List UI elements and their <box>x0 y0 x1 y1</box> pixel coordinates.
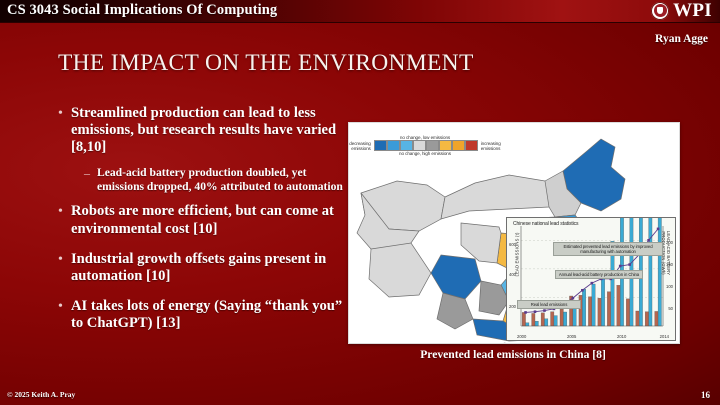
legend-swatches <box>374 140 478 151</box>
page-title: THE IMPACT ON THE ENVIRONMENT <box>58 50 474 77</box>
bullet-marker: • <box>58 298 71 332</box>
bullet-marker: • <box>58 251 71 285</box>
wpi-seal-icon <box>651 2 669 20</box>
bullet-text: Streamlined production can lead to less … <box>71 105 350 157</box>
map-legend: no change, low emissions decreasing emis… <box>361 135 489 157</box>
sub-bullet-text: Lead-acid battery production doubled, ye… <box>97 166 350 195</box>
legend-left-label: decreasing emissions <box>349 141 373 152</box>
copyright-notice: © 2025 Keith A. Pray <box>7 390 75 399</box>
header-bar: CS 3043 Social Implications Of Computing <box>0 0 720 23</box>
bullet-marker: • <box>58 105 71 157</box>
wpi-logo-text: WPI <box>673 1 712 20</box>
chart-annotation-production: Annual lead-acid battery production in C… <box>555 270 643 279</box>
chart-annotation-emissions: Real lead emissions <box>517 300 581 309</box>
list-item: • AI takes lots of energy (Saying “thank… <box>58 298 350 332</box>
bullet-text: Industrial growth offsets gains present … <box>71 251 350 285</box>
chart-plot-area <box>507 218 675 340</box>
sub-list-item: – Lead-acid battery production doubled, … <box>84 166 350 195</box>
list-item: • Industrial growth offsets gains presen… <box>58 251 350 285</box>
legend-bottom-label: no change, high emissions <box>361 151 489 156</box>
chart-annotation-prevented: Estimated prevented lead emissions by im… <box>553 242 663 256</box>
course-title: CS 3043 Social Implications Of Computing <box>7 2 277 19</box>
list-item: • Robots are more efficient, but can com… <box>58 203 350 237</box>
bullet-text: Robots are more efficient, but can come … <box>71 203 350 237</box>
bullet-text: AI takes lots of energy (Saying “thank y… <box>71 298 350 332</box>
list-item: • Streamlined production can lead to les… <box>58 105 350 157</box>
sub-bullet-marker: – <box>84 166 97 195</box>
inset-chart: Chinese national lead statistics LEAD EM… <box>506 217 676 341</box>
legend-right-label: increasing emissions <box>478 141 501 152</box>
bullet-marker: • <box>58 203 71 237</box>
presenter-name: Ryan Agge <box>655 33 708 45</box>
presentation-slide: CS 3043 Social Implications Of Computing… <box>0 0 720 405</box>
figure-panel: no change, low emissions decreasing emis… <box>348 122 680 344</box>
page-number: 16 <box>701 390 710 400</box>
wpi-logo: WPI <box>651 1 712 20</box>
figure-caption: Prevented lead emissions in China [8] <box>348 348 678 361</box>
bullet-list: • Streamlined production can lead to les… <box>58 105 350 342</box>
